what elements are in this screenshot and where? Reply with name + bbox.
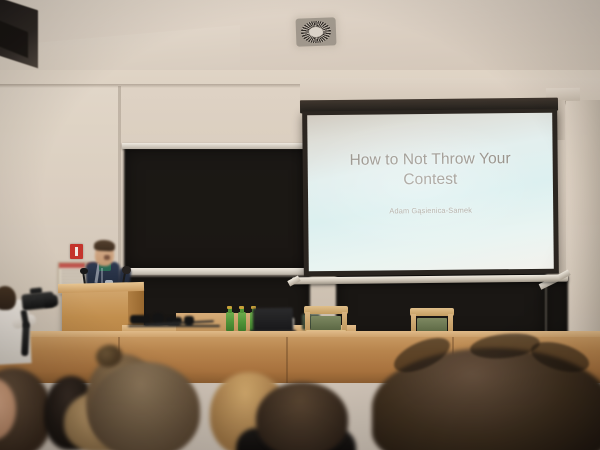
chalkboard-rail-middle [122, 268, 312, 275]
projector-glow [307, 113, 554, 272]
cable-adapter [184, 316, 194, 325]
notice-line [61, 273, 83, 274]
right-wall-column [566, 100, 600, 358]
microphone-icon-right [122, 266, 131, 274]
lecture-hall-photo: How to Not Throw Your Contest Adam Gąsie… [0, 0, 600, 450]
green-bottle [226, 312, 234, 331]
cable-bundle [126, 313, 222, 331]
chalkboard-upper [124, 148, 310, 270]
bottle-cap [227, 306, 232, 309]
slide-title: How to Not Throw Your Contest [320, 149, 541, 191]
slide-title-line-2: Contest [320, 169, 541, 191]
cable-wire [128, 325, 220, 327]
speaker-mouth [104, 255, 110, 260]
notice-line [61, 279, 83, 280]
projection-screen: How to Not Throw Your Contest Adam Gąsie… [302, 109, 559, 277]
audience-head-center [90, 362, 200, 450]
slide-title-line-1: How to Not Throw Your [320, 149, 541, 171]
chair-cushion [417, 318, 447, 332]
notice-line [61, 276, 83, 277]
camera-top-handle [30, 287, 43, 294]
laptop [253, 308, 293, 333]
bottle-cap [239, 306, 244, 309]
chalkboard-rail-top [122, 143, 312, 149]
ceiling-vent-icon [296, 17, 337, 46]
chair-cushion [311, 316, 341, 330]
microphone-icon-left [80, 268, 88, 274]
stage-panel-seam [286, 337, 288, 383]
slide-author: Adam Gąsienica-Samek [320, 205, 541, 216]
green-bottle [238, 312, 246, 331]
audience-head-dark-center [256, 382, 348, 450]
slide-surface: How to Not Throw Your Contest Adam Gąsie… [307, 113, 554, 272]
speaker-hair [94, 239, 116, 251]
camera-lens-icon [43, 294, 58, 307]
fire-equipment-sign-icon [70, 244, 83, 259]
camera-operator-head [0, 286, 16, 310]
